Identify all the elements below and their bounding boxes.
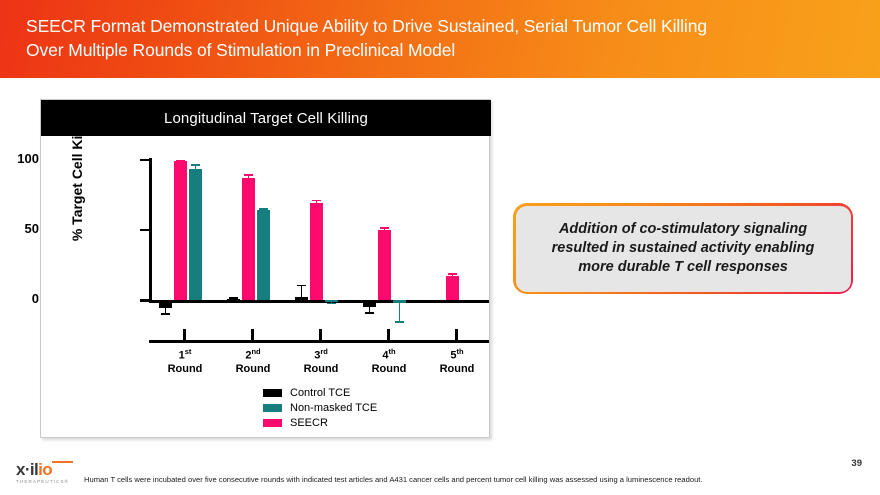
error-bar-cap [380,227,389,229]
y-tick-label: 50 [0,221,39,236]
error-bar-stem [399,303,401,321]
y-tick-100 [140,159,149,162]
y-tick-label: 100 [0,151,39,166]
legend-swatch-icon [263,389,282,397]
page-title: SEECR Format Demonstrated Unique Ability… [26,14,846,62]
bar [242,178,255,300]
error-bar-cap [327,303,336,305]
x-axis-label: 2ndRound [215,345,291,376]
logo-text-io: io [38,460,52,479]
chart-panel: Longitudinal Target Cell Killing % Targe… [40,99,490,438]
error-bar-cap [395,321,404,323]
legend-item: Non-masked TCE [263,401,377,415]
chart-title: Longitudinal Target Cell Killing [41,100,491,136]
x-tick-5 [455,329,458,340]
bar [310,203,323,300]
page-number: 39 [851,458,862,469]
error-bar-cap [191,164,200,166]
y-tick-label: 0 [0,291,39,306]
error-bar-cap [312,200,321,202]
x-axis-line [149,340,489,343]
y-tick-50 [140,229,149,232]
callout-box: Addition of co-stimulatory signaling res… [513,203,853,294]
error-bar-cap [161,313,170,315]
legend-item: SEECR [263,416,377,430]
legend-item: Control TCE [263,386,377,400]
chart-legend: Control TCENon-masked TCESEECR [263,386,377,431]
x-axis-label: 3rdRound [283,345,359,376]
error-bar-cap [448,273,457,275]
x-tick-3 [319,329,322,340]
x-axis-label: 1stRound [147,345,223,376]
error-bar-cap [297,285,306,287]
x-axis-baseline [149,300,489,303]
error-bar-stem [301,285,303,298]
error-bar-cap [229,297,238,299]
logo-wordmark: x·ilio [16,461,78,478]
x-axis-label: 5thRound [419,345,495,376]
y-axis-title: % Target Cell Killing [69,94,85,254]
x-axis-label: 4thRound [351,345,427,376]
error-bar-cap [244,174,253,176]
company-logo: x·ilio THERAPEUTICS® [16,461,78,484]
bar [257,210,270,300]
legend-label: Non-masked TCE [290,402,377,414]
bar [378,230,391,300]
y-axis-line [149,158,152,302]
bar [295,297,308,300]
bar [446,276,459,300]
bar [363,300,376,307]
error-bar-cap [176,160,185,162]
error-bar-cap [259,208,268,210]
legend-swatch-icon [263,419,282,427]
x-tick-4 [387,329,390,340]
footnote-caption: Human T cells were incubated over five c… [84,475,824,485]
error-bar-cap [365,312,374,314]
legend-label: SEECR [290,417,328,429]
chart-plot-area: % Target Cell Killing 050100 1stRound2nd… [41,136,491,439]
header-banner: SEECR Format Demonstrated Unique Ability… [0,0,880,78]
x-tick-1 [183,329,186,340]
x-tick-2 [251,329,254,340]
y-tick-0 [140,299,149,302]
callout-text: Addition of co-stimulatory signaling res… [552,220,815,277]
callout-inner: Addition of co-stimulatory signaling res… [516,206,851,292]
legend-label: Control TCE [290,387,350,399]
logo-tagline: THERAPEUTICS® [16,479,78,484]
bar [159,300,172,308]
bar [174,161,187,300]
bar [189,169,202,300]
legend-swatch-icon [263,404,282,412]
logo-text-xil: x·il [16,460,38,479]
logo-overbar-icon [52,461,73,463]
